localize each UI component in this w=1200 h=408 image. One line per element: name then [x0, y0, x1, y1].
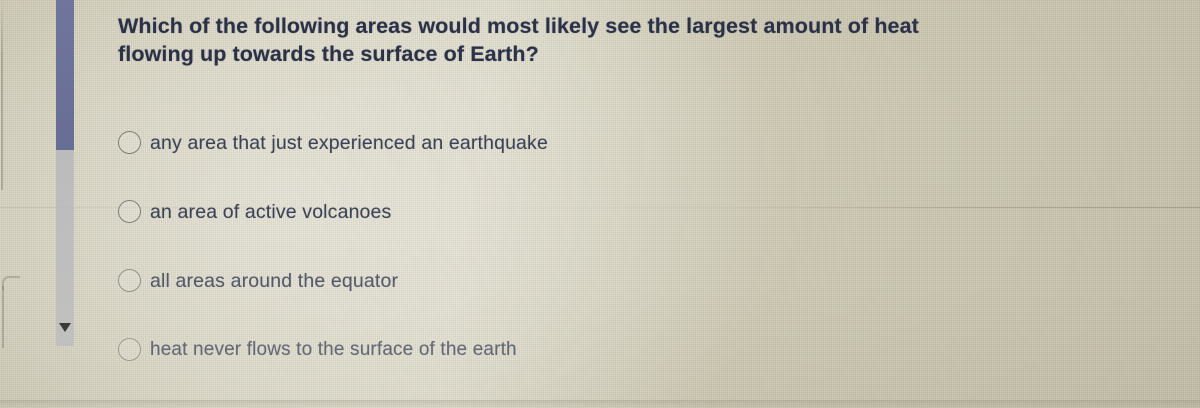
window-edge-line-top: [1, 0, 3, 190]
window-panel-corner: [2, 276, 20, 290]
answer-option-a[interactable]: any area that just experienced an earthq…: [118, 108, 1118, 177]
answer-option-b-label[interactable]: an area of active volcanoes: [150, 200, 391, 224]
radio-button-icon-d[interactable]: [118, 338, 141, 361]
vertical-scrollbar[interactable]: [56, 0, 74, 346]
triangle-down-icon[interactable]: [59, 323, 71, 332]
answer-options-list: any area that just experienced an earthq…: [118, 108, 1118, 384]
radio-button-icon-a[interactable]: [118, 131, 141, 154]
radio-button-icon-c[interactable]: [118, 269, 141, 292]
window-edge-line-bottom: [2, 286, 4, 348]
photographed-screen: Which of the following areas would most …: [0, 0, 1200, 408]
answer-option-d-label[interactable]: heat never flows to the surface of the e…: [150, 338, 517, 362]
answer-option-c[interactable]: all areas around the equator: [118, 246, 1118, 315]
answer-option-c-label[interactable]: all areas around the equator: [150, 269, 398, 293]
answer-option-d[interactable]: heat never flows to the surface of the e…: [118, 315, 1118, 384]
answer-option-b[interactable]: an area of active volcanoes: [118, 177, 1118, 246]
scrollbar-thumb[interactable]: [56, 0, 74, 150]
question-text: Which of the following areas would most …: [118, 0, 998, 68]
answer-option-a-label[interactable]: any area that just experienced an earthq…: [150, 131, 548, 155]
radio-button-icon-b[interactable]: [118, 200, 141, 223]
question-block: Which of the following areas would most …: [118, 0, 1118, 384]
panel-bottom-edge: [0, 400, 1200, 408]
